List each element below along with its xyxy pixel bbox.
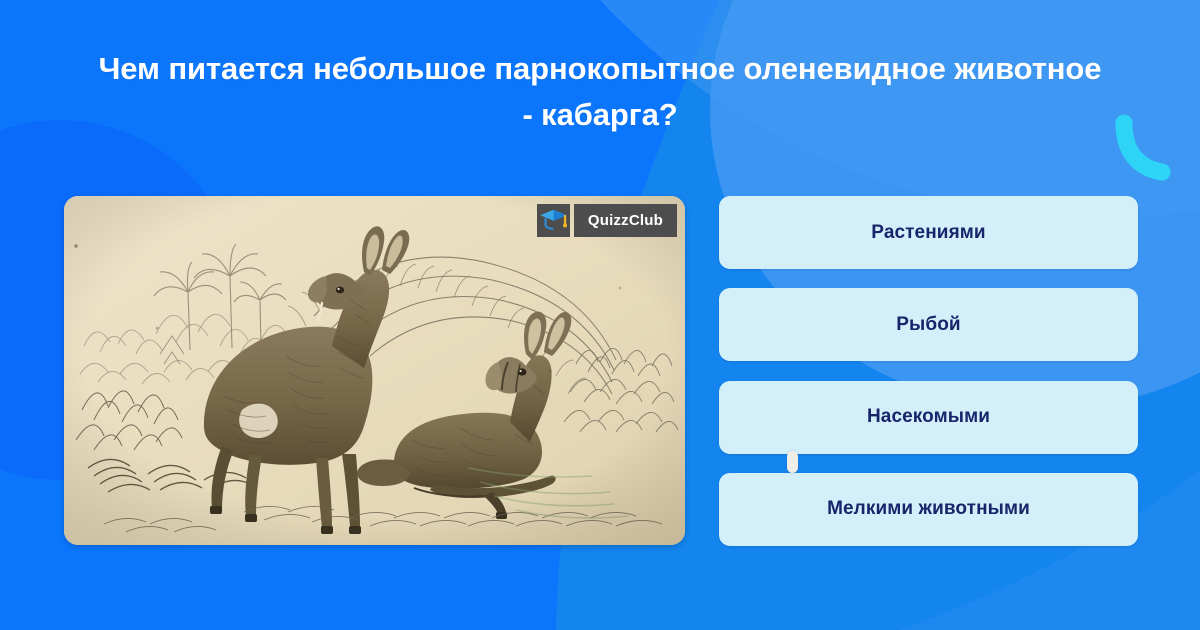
answer-option-3-label: Насекомыми	[867, 406, 990, 428]
graduation-cap-icon	[537, 204, 570, 237]
answer-option-1-label: Растениями	[871, 222, 985, 244]
content-area: QuizzClub Растениями Рыбой Насекомыми Ме…	[0, 196, 1200, 546]
question-title: Чем питается небольшое парнокопытное оле…	[0, 46, 1200, 138]
watermark-label: QuizzClub	[574, 204, 677, 237]
answer-option-2[interactable]: Рыбой	[719, 288, 1138, 361]
watermark-badge: QuizzClub	[537, 204, 677, 237]
answer-option-1[interactable]: Растениями	[719, 196, 1138, 269]
question-illustration: QuizzClub	[64, 196, 685, 545]
answer-option-3[interactable]: Насекомыми	[719, 381, 1138, 454]
answer-option-4[interactable]: Мелкими животными	[719, 473, 1138, 546]
scrollbar-thumb[interactable]	[787, 451, 798, 473]
answer-option-2-label: Рыбой	[896, 314, 960, 336]
answer-options-list: Растениями Рыбой Насекомыми Мелкими живо…	[719, 196, 1138, 546]
answer-option-4-label: Мелкими животными	[827, 498, 1030, 520]
